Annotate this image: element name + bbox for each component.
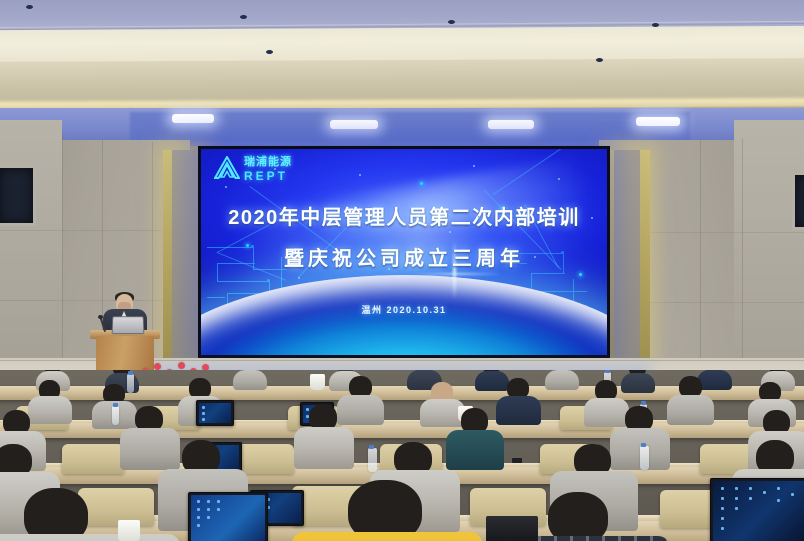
wall-art-panel-left xyxy=(0,165,36,226)
audience-laptop-foreground xyxy=(188,492,268,541)
rept-triangle-logo-icon xyxy=(214,156,240,180)
paper-cup xyxy=(310,374,325,390)
title-line-1: 2020年中层管理人员第二次内部培训 xyxy=(201,201,607,230)
audience-area xyxy=(0,370,804,541)
presentation-titles: 2020年中层管理人员第二次内部培训 暨庆祝公司成立三周年 xyxy=(201,201,607,271)
water-bottle xyxy=(640,446,649,470)
recess-inner-right xyxy=(614,150,640,375)
ceiling-spot xyxy=(652,23,659,27)
company-logo: 瑞浦能源 REPT xyxy=(214,156,292,182)
water-bottle xyxy=(112,406,119,425)
water-bottle xyxy=(368,448,377,472)
recess-inner-left xyxy=(172,150,198,375)
audience-laptop xyxy=(196,400,234,426)
ceiling-panel-light xyxy=(488,120,534,129)
title-line-2: 暨庆祝公司成立三周年 xyxy=(201,242,607,271)
screen-light-flare xyxy=(412,273,502,275)
ceiling-spot xyxy=(596,58,603,62)
auditorium-photo-scene: 瑞浦能源 REPT 2020年中层管理人员第二次内部培训 暨庆祝公司成立三周年 … xyxy=(0,0,804,541)
water-bottle xyxy=(127,374,134,393)
ceiling-panel-light xyxy=(636,117,680,126)
podium-microphone-head xyxy=(98,315,103,319)
ceiling-panel-light xyxy=(330,120,378,129)
ceiling-spot xyxy=(240,15,247,19)
ceiling-spot xyxy=(448,20,455,24)
paper-cup-foreground xyxy=(118,520,140,541)
led-display-frame: 瑞浦能源 REPT 2020年中层管理人员第二次内部培训 暨庆祝公司成立三周年 … xyxy=(198,146,610,358)
equipment-box xyxy=(486,516,538,541)
ceiling-panel-light xyxy=(172,114,214,123)
ceiling-spot xyxy=(266,50,273,54)
subtitle-location-date: 温州 2020.10.31 xyxy=(201,303,607,316)
mobile-phone xyxy=(512,458,522,463)
logo-english-name: REPT xyxy=(244,170,292,182)
audience-laptop-foreground-right xyxy=(710,478,804,541)
led-display-screen: 瑞浦能源 REPT 2020年中层管理人员第二次内部培训 暨庆祝公司成立三周年 … xyxy=(201,149,607,355)
ceiling-spot xyxy=(26,5,33,9)
podium-laptop xyxy=(112,316,145,334)
ceiling-blue-inner xyxy=(130,112,690,142)
auditorium-seat xyxy=(78,488,154,526)
wall-art-panel-right xyxy=(792,172,804,230)
auditorium-seat xyxy=(62,444,124,474)
logo-chinese-name: 瑞浦能源 xyxy=(244,157,292,168)
wall-joint-line xyxy=(0,230,190,231)
